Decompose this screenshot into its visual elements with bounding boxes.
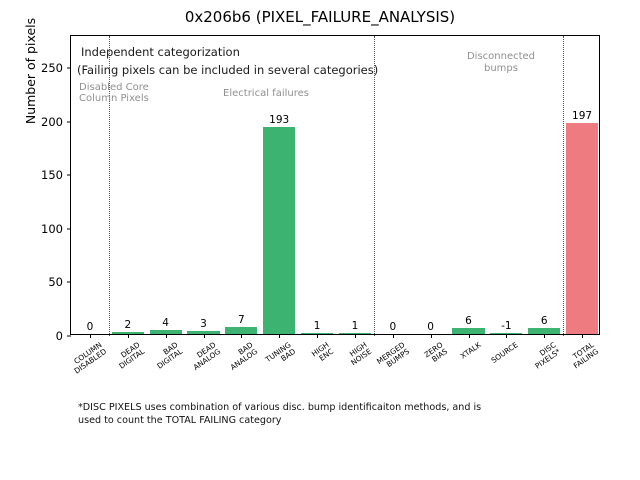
- footnote-line-2: used to count the TOTAL FAILING category: [78, 415, 598, 428]
- x-axis-tick-label: TUNINGBAD: [265, 341, 298, 371]
- x-axis-tick-mark: [355, 334, 356, 338]
- footnote-line-1: *DISC PIXELS uses combination of various…: [78, 402, 598, 415]
- y-axis-tick-mark: [67, 228, 71, 229]
- bar-value-label: 1: [314, 320, 321, 332]
- x-axis-tick-mark: [431, 334, 432, 338]
- x-axis-tick-label: HIGHNOISE: [345, 341, 373, 368]
- group-label-disconnected-bumps-1: Disconnected: [441, 51, 561, 63]
- x-axis-tick-mark: [469, 334, 470, 338]
- bar[interactable]: [225, 327, 257, 335]
- bar-value-label: 0: [427, 321, 434, 333]
- bar-value-label: 193: [269, 114, 289, 126]
- x-axis-tick-label: BADANALOG: [225, 341, 260, 373]
- bar-value-label: 4: [162, 317, 169, 329]
- bar-value-label: 2: [124, 319, 131, 331]
- group-label-disconnected-bumps-2: bumps: [441, 63, 561, 75]
- x-axis-tick-mark: [582, 334, 583, 338]
- x-axis-tick-label: DEADDIGITAL: [113, 341, 146, 371]
- group-label-disabled-core-2: Column Pixels: [79, 93, 149, 105]
- plot-area: 0501001502002500COLUMNDISABLED2DEADDIGIT…: [71, 36, 599, 334]
- bar-value-label: -1: [501, 320, 511, 332]
- x-axis-tick-mark: [393, 334, 394, 338]
- annotation-headline-2: (Failing pixels can be included in sever…: [77, 62, 378, 78]
- x-axis-tick-label: XTALK: [459, 341, 483, 361]
- x-axis-tick-mark: [90, 334, 91, 338]
- x-axis-tick-label: ZEROBIAS: [423, 341, 450, 367]
- x-axis-tick-mark: [241, 334, 242, 338]
- bar-value-label: 0: [87, 321, 94, 333]
- y-axis-label: Number of pixels: [23, 0, 38, 161]
- group-separator-line: [563, 36, 564, 336]
- group-separator-line: [374, 36, 375, 336]
- bar-value-label: 197: [572, 110, 592, 122]
- x-axis-tick-label: BADDIGITAL: [151, 341, 184, 371]
- y-axis-tick-mark: [67, 175, 71, 176]
- y-axis-tick-mark: [67, 68, 71, 69]
- x-axis-tick-mark: [317, 334, 318, 338]
- annotation-headline-1: Independent categorization: [81, 44, 240, 60]
- y-axis-tick-mark: [67, 121, 71, 122]
- x-axis-tick-label: HIGHENC: [310, 341, 335, 366]
- x-axis-tick-mark: [506, 334, 507, 338]
- bar-value-label: 7: [238, 314, 245, 326]
- x-axis-tick-mark: [166, 334, 167, 338]
- x-axis-tick-label: TOTALFAILING: [568, 341, 601, 371]
- figure-canvas: 0x206b6 (PIXEL_FAILURE_ANALYSIS) Number …: [0, 0, 640, 480]
- x-axis-tick-mark: [279, 334, 280, 338]
- bar-value-label: 0: [389, 321, 396, 333]
- group-label-disabled-core-1: Disabled Core: [79, 82, 149, 94]
- group-label-electrical-failures: Electrical failures: [201, 88, 331, 100]
- plot-axes: Number of pixels 0501001502002500COLUMND…: [70, 35, 600, 335]
- x-axis-tick-mark: [544, 334, 545, 338]
- y-axis-tick-mark: [67, 282, 71, 283]
- bar-value-label: 6: [465, 315, 472, 327]
- x-axis-tick-label: DEADANALOG: [187, 341, 222, 373]
- y-axis-tick-mark: [67, 336, 71, 337]
- group-separator-line: [109, 36, 110, 336]
- x-axis-tick-label: COLUMNDISABLED: [68, 341, 108, 376]
- bar-value-label: 3: [200, 318, 207, 330]
- chart-title: 0x206b6 (PIXEL_FAILURE_ANALYSIS): [0, 8, 640, 26]
- x-axis-tick-label: DISCPIXELS*: [530, 341, 563, 371]
- bar-value-label: 1: [352, 320, 359, 332]
- x-axis-tick-label: SOURCE: [490, 341, 520, 365]
- chart-footnote: *DISC PIXELS uses combination of various…: [78, 402, 598, 427]
- bar[interactable]: [263, 127, 295, 334]
- x-axis-tick-label: MERGEDBUMPS: [375, 341, 411, 373]
- bar[interactable]: [566, 123, 598, 334]
- x-axis-tick-mark: [128, 334, 129, 338]
- bar-value-label: 6: [541, 315, 548, 327]
- x-axis-tick-mark: [204, 334, 205, 338]
